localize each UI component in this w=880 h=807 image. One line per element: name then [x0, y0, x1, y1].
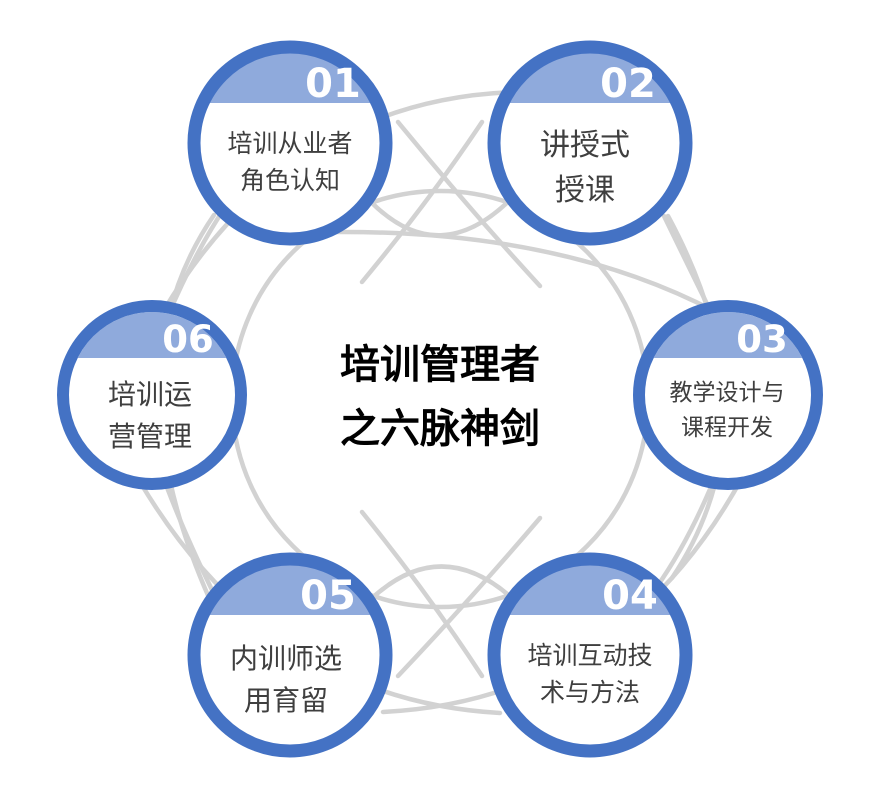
node-02-label-line1: 讲授式 — [540, 128, 630, 163]
diagram-canvas: 01 培训从业者 角色认知 02 讲授式 授课 03 教学设计与 课程开发 — [0, 0, 880, 807]
connector-center-ring — [232, 191, 648, 607]
node-06-label-line1: 培训运 — [108, 378, 192, 411]
center-title-line2: 之六脉神剑 — [340, 406, 540, 452]
node-03-label-line1: 教学设计与 — [670, 380, 785, 406]
node-01[interactable]: 01 培训从业者 角色认知 — [194, 47, 386, 239]
center-title-group: 培训管理者 之六脉神剑 — [340, 342, 540, 452]
node-03-label-line2: 课程开发 — [681, 415, 773, 441]
node-02[interactable]: 02 讲授式 授课 — [494, 47, 686, 239]
node-01-label-line1: 培训从业者 — [227, 129, 352, 158]
center-title-line1: 培训管理者 — [340, 342, 540, 388]
node-04-label-line1: 培训互动技 — [527, 641, 652, 670]
node-02-label-line2: 授课 — [555, 173, 615, 208]
node-06-number: 06 — [162, 318, 214, 361]
node-01-label-line2: 角色认知 — [240, 166, 340, 195]
node-03[interactable]: 03 教学设计与 课程开发 — [639, 306, 820, 484]
node-02-number: 02 — [600, 61, 656, 107]
node-05[interactable]: 05 内训师选 用育留 — [194, 559, 386, 751]
node-05-label-line2: 用育留 — [244, 684, 328, 717]
node-01-number: 01 — [305, 61, 361, 107]
node-05-number: 05 — [300, 573, 356, 619]
node-03-number: 03 — [736, 318, 788, 361]
node-04[interactable]: 04 培训互动技 术与方法 — [494, 559, 686, 751]
node-04-label-line2: 术与方法 — [540, 678, 640, 707]
node-04-number: 04 — [602, 573, 658, 619]
hexagon-cycle-diagram: 01 培训从业者 角色认知 02 讲授式 授课 03 教学设计与 课程开发 — [0, 0, 880, 807]
node-05-label-line1: 内训师选 — [230, 642, 342, 675]
node-06-label-line2: 营管理 — [108, 420, 192, 453]
node-06[interactable]: 06 培训运 营管理 — [63, 306, 244, 484]
